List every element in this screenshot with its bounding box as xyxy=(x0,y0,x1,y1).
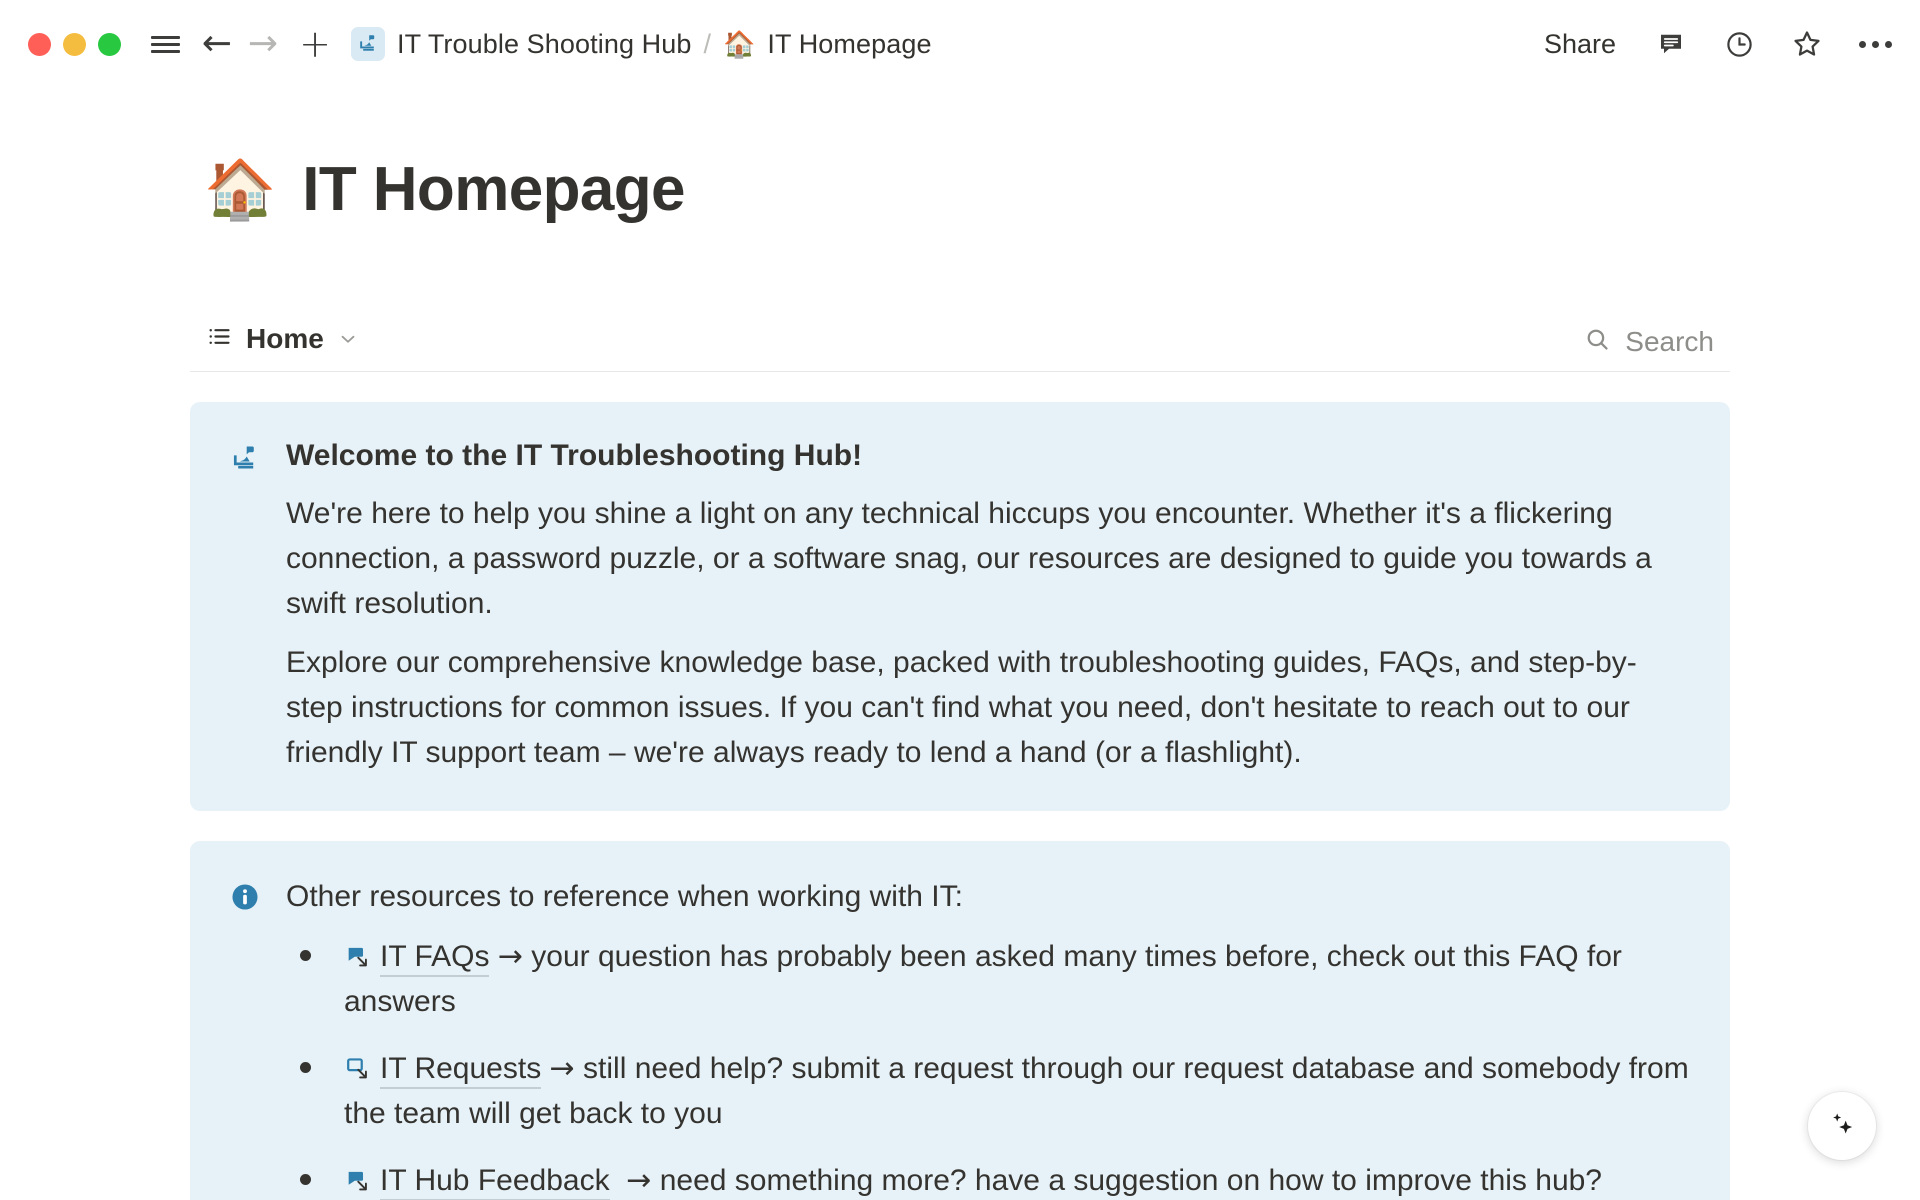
breadcrumb-separator: / xyxy=(704,29,712,60)
callout-welcome: Welcome to the IT Troubleshooting Hub! W… xyxy=(190,402,1730,811)
info-icon xyxy=(226,875,264,913)
sidebar-toggle-icon[interactable] xyxy=(143,22,187,66)
home-emoji-icon: 🏠 xyxy=(204,161,276,219)
page-link-icon xyxy=(344,1167,372,1195)
page-link-icon xyxy=(344,943,372,971)
page-title[interactable]: IT Homepage xyxy=(302,156,685,224)
callout-welcome-paragraph-1: We're here to help you shine a light on … xyxy=(286,491,1690,626)
callout-resources-body: Other resources to reference when workin… xyxy=(286,875,1690,1200)
comment-icon[interactable] xyxy=(1650,23,1692,65)
home-emoji-icon: 🏠 xyxy=(723,31,755,57)
list-view-icon xyxy=(206,323,233,355)
workstation-icon xyxy=(226,436,264,476)
share-button[interactable]: Share xyxy=(1536,23,1624,66)
breadcrumb-page[interactable]: IT Homepage xyxy=(767,29,931,60)
forward-arrow-icon[interactable]: → xyxy=(241,22,285,66)
titlebar-actions: Share xyxy=(1536,0,1896,88)
breadcrumb-workspace[interactable]: IT Trouble Shooting Hub xyxy=(397,29,692,60)
tab-home[interactable]: Home xyxy=(204,319,365,365)
search-button[interactable]: Search xyxy=(1574,320,1724,364)
database-link-icon xyxy=(344,1055,372,1083)
callout-welcome-body: Welcome to the IT Troubleshooting Hub! W… xyxy=(286,436,1690,775)
chevron-down-icon[interactable] xyxy=(337,328,359,350)
view-toolbar: Home Search xyxy=(190,313,1730,372)
callout-welcome-title: Welcome to the IT Troubleshooting Hub! xyxy=(286,436,1690,477)
close-window-button[interactable] xyxy=(28,33,51,56)
app-window: ← → + IT Trouble Shooting Hub / 🏠 IT Hom… xyxy=(0,0,1920,1200)
page-title-row: 🏠 IT Homepage xyxy=(190,114,1730,265)
list-item-text: your question has probably been asked ma… xyxy=(344,940,1622,1018)
link-it-requests[interactable]: IT Requests xyxy=(380,1052,541,1089)
more-options-icon[interactable] xyxy=(1854,23,1896,65)
resource-list: IT FAQs → your question has probably bee… xyxy=(286,934,1690,1200)
link-it-hub-feedback[interactable]: IT Hub Feedback xyxy=(380,1164,610,1200)
ai-sparkle-icon xyxy=(1825,1107,1859,1146)
bullet-point xyxy=(300,1174,311,1185)
arrow-glyph: → xyxy=(498,939,523,974)
workstation-icon xyxy=(351,27,385,61)
navigation-arrows: ← → xyxy=(195,22,285,66)
star-icon[interactable] xyxy=(1786,23,1828,65)
arrow-glyph: → xyxy=(550,1051,575,1086)
page-content: 🏠 IT Homepage Home xyxy=(0,88,1920,1200)
search-icon xyxy=(1584,326,1611,358)
minimize-window-button[interactable] xyxy=(63,33,86,56)
callout-welcome-paragraph-2: Explore our comprehensive knowledge base… xyxy=(286,640,1690,775)
list-item-arrow xyxy=(541,1052,549,1085)
maximize-window-button[interactable] xyxy=(98,33,121,56)
list-item: IT Requests → still need help? submit a … xyxy=(286,1046,1690,1136)
clock-history-icon[interactable] xyxy=(1718,23,1760,65)
ai-assistant-button[interactable] xyxy=(1808,1092,1876,1160)
breadcrumb: IT Trouble Shooting Hub / 🏠 IT Homepage xyxy=(351,27,932,61)
bullet-point xyxy=(300,1062,311,1073)
view-name-label: Home xyxy=(246,323,324,355)
arrow-glyph: → xyxy=(626,1163,651,1198)
list-item-arrow xyxy=(610,1164,627,1197)
list-item: IT Hub Feedback → need something more? h… xyxy=(286,1158,1690,1200)
back-arrow-icon[interactable]: ← xyxy=(195,22,239,66)
list-item-arrow xyxy=(489,940,497,973)
bullet-point xyxy=(300,950,311,961)
new-page-plus-icon[interactable]: + xyxy=(293,22,337,66)
callout-resources: Other resources to reference when workin… xyxy=(190,841,1730,1200)
callout-resources-lead: Other resources to reference when workin… xyxy=(286,875,1690,919)
titlebar: ← → + IT Trouble Shooting Hub / 🏠 IT Hom… xyxy=(0,0,1920,88)
window-controls xyxy=(28,33,121,56)
search-label: Search xyxy=(1625,326,1714,358)
list-item: IT FAQs → your question has probably bee… xyxy=(286,934,1690,1024)
link-it-faqs[interactable]: IT FAQs xyxy=(380,940,489,977)
